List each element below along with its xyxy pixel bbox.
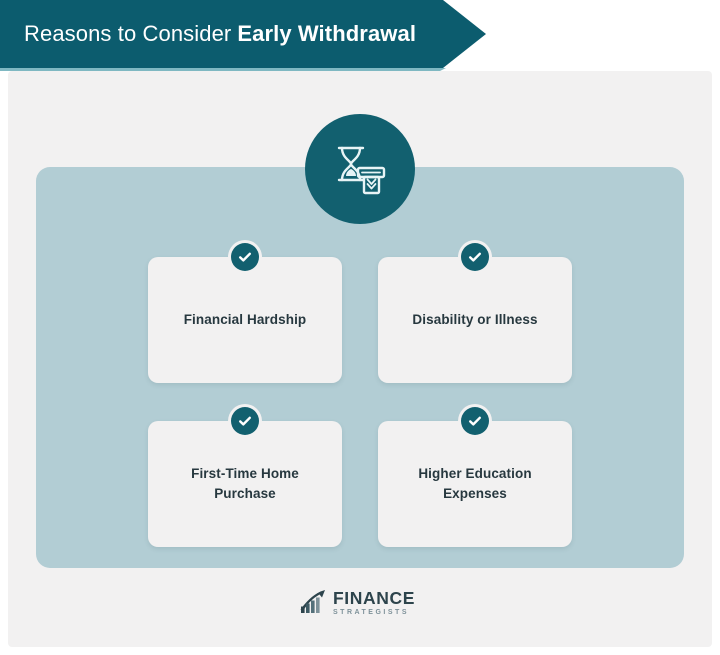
card-higher-education-expenses[interactable]: Higher Education Expenses [378,421,572,547]
card-label: Higher Education Expenses [418,464,531,503]
check-icon-disc [231,243,259,271]
logo-wordmark: FINANCE STRATEGISTS [333,590,415,617]
finance-strategists-logo: FINANCE STRATEGISTS [298,586,422,620]
infographic-root: Reasons to Consider Early Withdrawal [0,0,720,655]
card-disability-or-illness[interactable]: Disability or Illness [378,257,572,383]
hourglass-atm-cash-icon [305,114,415,224]
card-first-time-home-purchase[interactable]: First-Time Home Purchase [148,421,342,547]
logo-primary-text: FINANCE [333,590,415,608]
check-icon-disc [461,407,489,435]
banner-underline [0,68,480,71]
page-title-regular: Reasons to Consider [24,21,231,47]
check-icon-disc [461,243,489,271]
logo-secondary-text: STRATEGISTS [333,609,415,616]
card-label: First-Time Home Purchase [191,464,299,503]
page-title: Reasons to Consider Early Withdrawal [24,0,416,68]
header-banner: Reasons to Consider Early Withdrawal [0,0,486,68]
page-title-bold: Early Withdrawal [237,21,416,47]
card-financial-hardship[interactable]: Financial Hardship [148,257,342,383]
bar-chart-arrow-icon [298,587,328,620]
check-icon [458,240,492,274]
check-icon [228,404,262,438]
check-icon [458,404,492,438]
card-label: Financial Hardship [184,310,307,330]
check-icon-disc [231,407,259,435]
card-label: Disability or Illness [412,310,537,330]
check-icon [228,240,262,274]
cards-grid: Financial Hardship Disability or Illness [148,257,572,547]
